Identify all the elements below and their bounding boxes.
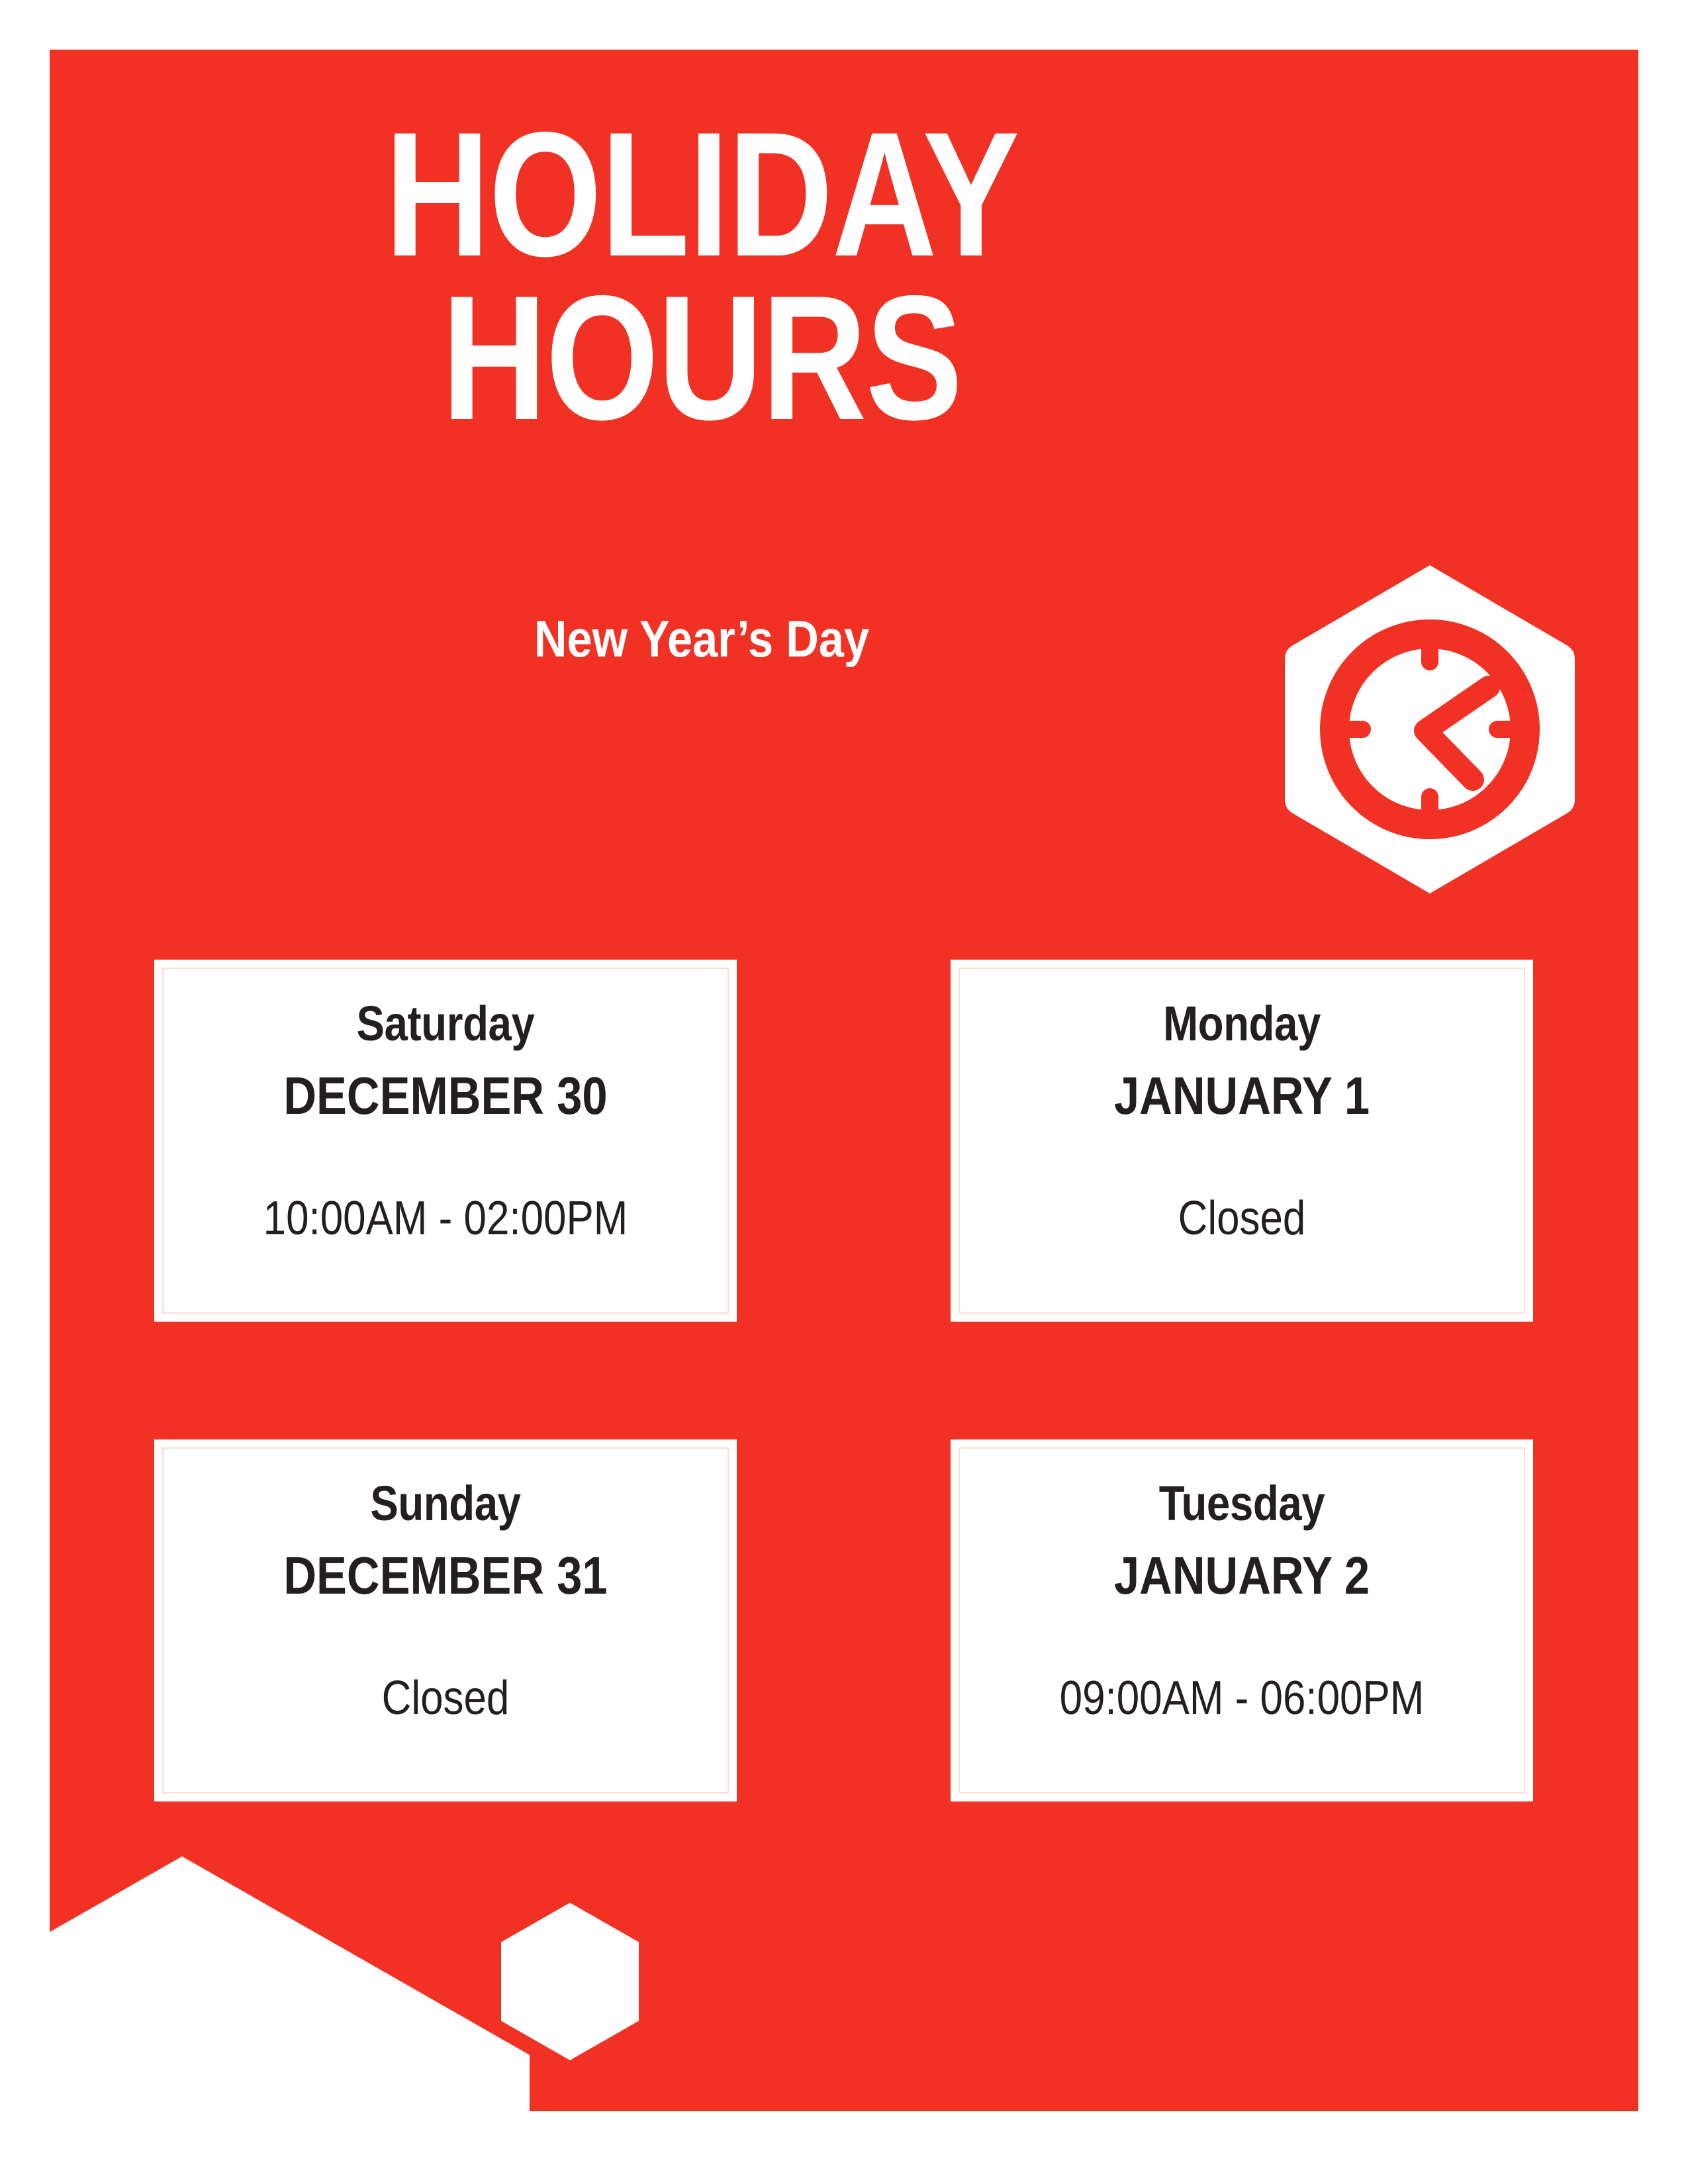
card-day-name: Sunday bbox=[195, 1475, 696, 1531]
card-date: DECEMBER 30 bbox=[195, 1066, 696, 1126]
page-subtitle: New Year’s Day bbox=[177, 609, 1226, 669]
card-hours: Closed bbox=[992, 1191, 1493, 1246]
hours-card: Tuesday JANUARY 2 09:00AM - 06:00PM bbox=[951, 1439, 1533, 1801]
card-hours: Closed bbox=[195, 1671, 696, 1725]
card-day-name: Tuesday bbox=[992, 1475, 1493, 1531]
bottom-white-margin bbox=[0, 2111, 1688, 2184]
card-date: JANUARY 2 bbox=[992, 1545, 1493, 1606]
clock-icon bbox=[1335, 634, 1525, 825]
card-day-name: Saturday bbox=[195, 995, 696, 1052]
hours-card: Monday JANUARY 1 Closed bbox=[951, 960, 1533, 1322]
hours-card: Saturday DECEMBER 30 10:00AM - 02:00PM bbox=[154, 960, 737, 1322]
card-date: DECEMBER 31 bbox=[195, 1545, 696, 1606]
page-title: HOLIDAY HOURS bbox=[213, 113, 1190, 439]
holiday-hours-poster: HOLIDAY HOURS New Year’s Day Sa bbox=[0, 0, 1688, 2184]
title-line-2: HOURS bbox=[213, 276, 1190, 439]
clock-badge bbox=[1281, 561, 1579, 897]
title-line-1: HOLIDAY bbox=[213, 113, 1190, 276]
hours-card: Sunday DECEMBER 31 Closed bbox=[154, 1439, 737, 1801]
card-hours: 10:00AM - 02:00PM bbox=[195, 1191, 696, 1246]
card-date: JANUARY 1 bbox=[992, 1066, 1493, 1126]
card-hours: 09:00AM - 06:00PM bbox=[992, 1671, 1493, 1725]
card-day-name: Monday bbox=[992, 995, 1493, 1052]
